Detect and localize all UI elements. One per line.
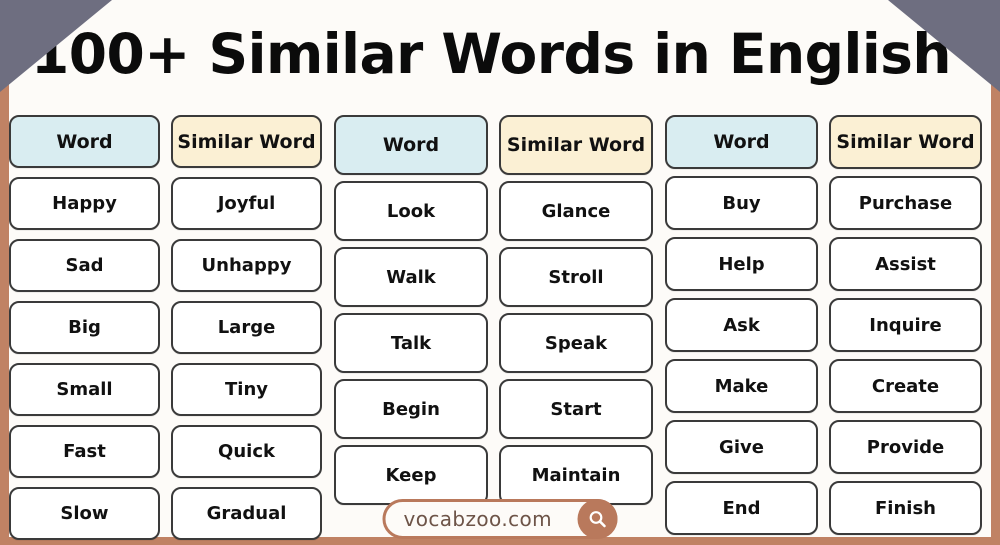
column-header-word-3: Word xyxy=(665,115,818,169)
similar-word-cell: Stroll xyxy=(499,247,653,307)
word-cell: Happy xyxy=(9,177,160,230)
column-pair-2: WordLookWalkTalkBeginKeepSimilar WordGla… xyxy=(334,115,653,505)
column-header-word-1: Word xyxy=(9,115,160,168)
word-cell: Sad xyxy=(9,239,160,292)
similar-word-cell: Unhappy xyxy=(171,239,322,292)
similar-word-cell: Start xyxy=(499,379,653,439)
word-cell: End xyxy=(665,481,818,535)
similar-word-cell: Assist xyxy=(829,237,982,291)
poster-canvas: 100+ Similar Words in English WordHappyS… xyxy=(0,0,1000,545)
logo-text: vocabzoo.com xyxy=(404,507,553,531)
word-cell: Buy xyxy=(665,176,818,230)
similar-word-cell: Gradual xyxy=(171,487,322,540)
word-cell: Fast xyxy=(9,425,160,478)
similar-word-cell: Provide xyxy=(829,420,982,474)
column-pair-1: WordHappySadBigSmallFastSlowSimilar Word… xyxy=(9,115,322,540)
word-cell: Walk xyxy=(334,247,488,307)
similar-word-cell: Joyful xyxy=(171,177,322,230)
similar-word-cell: Glance xyxy=(499,181,653,241)
word-cell: Help xyxy=(665,237,818,291)
word-cell: Big xyxy=(9,301,160,354)
word-cell: Ask xyxy=(665,298,818,352)
word-cell: Slow xyxy=(9,487,160,540)
word-cell: Begin xyxy=(334,379,488,439)
magnifier-icon[interactable] xyxy=(578,499,618,539)
word-cell: Look xyxy=(334,181,488,241)
similar-word-cell: Purchase xyxy=(829,176,982,230)
word-cell: Talk xyxy=(334,313,488,373)
similar-word-cell: Tiny xyxy=(171,363,322,416)
similar-word-cell: Quick xyxy=(171,425,322,478)
word-pairs-grid: WordHappySadBigSmallFastSlowSimilar Word… xyxy=(0,0,982,537)
word-cell: Keep xyxy=(334,445,488,505)
similar-word-cell: Inquire xyxy=(829,298,982,352)
column-header-similar-2: Similar Word xyxy=(499,115,653,175)
word-cell: Make xyxy=(665,359,818,413)
vocabzoo-logo[interactable]: vocabzoo.com xyxy=(383,499,618,539)
word-cell: Small xyxy=(9,363,160,416)
similar-word-cell: Speak xyxy=(499,313,653,373)
column-pair-3: WordBuyHelpAskMakeGiveEndSimilar WordPur… xyxy=(665,115,982,535)
word-cell: Give xyxy=(665,420,818,474)
column-header-word-2: Word xyxy=(334,115,488,175)
similar-word-cell: Maintain xyxy=(499,445,653,505)
column-header-similar-3: Similar Word xyxy=(829,115,982,169)
similar-word-cell: Large xyxy=(171,301,322,354)
similar-word-cell: Finish xyxy=(829,481,982,535)
column-header-similar-1: Similar Word xyxy=(171,115,322,168)
similar-word-cell: Create xyxy=(829,359,982,413)
